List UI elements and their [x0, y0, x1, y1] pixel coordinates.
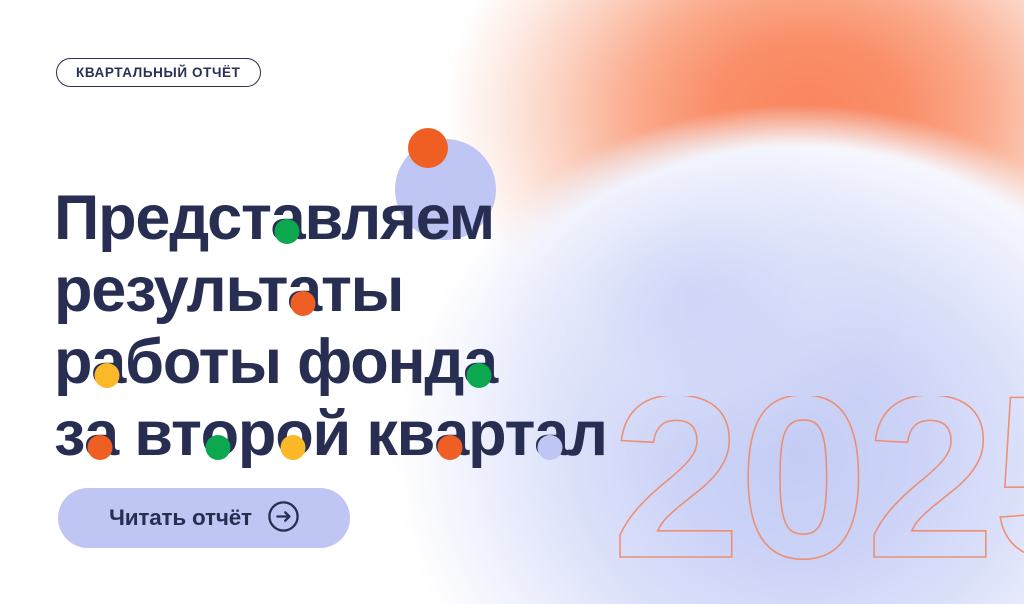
headline-text: л [568, 399, 607, 469]
headline-letter: о [275, 399, 312, 469]
headline-dotted-letter: а [84, 398, 118, 470]
headline-letter: а [91, 327, 125, 397]
headline-line-3: работы фонда [54, 326, 714, 398]
headline-letter: о [201, 399, 238, 469]
headline-text: р [54, 327, 91, 397]
headline-letter: а [534, 399, 568, 469]
headline-dotted-letter: а [434, 398, 468, 470]
headline-text: боты фонд [125, 327, 463, 397]
headline-dotted-letter: а [287, 254, 321, 326]
headline-dotted-letter: а [534, 398, 568, 470]
report-type-badge-label: КВАРТАЛЬНЫЙ ОТЧЁТ [76, 65, 241, 80]
headline-text: з [54, 399, 84, 469]
headline-dotted-letter: о [201, 398, 238, 470]
headline-letter: а [287, 255, 321, 325]
arrow-right-circle-icon [268, 501, 299, 535]
headline-line-2: результаты [54, 254, 714, 326]
read-report-button-label: Читать отчёт [109, 505, 252, 531]
headline-line-1: Представляем [54, 182, 714, 254]
headline-dotted-letter: а [271, 182, 305, 254]
headline-text: Предст [54, 183, 271, 253]
headline-letter: а [434, 399, 468, 469]
headline-dotted-letter: а [91, 326, 125, 398]
promo-banner: 2025 КВАРТАЛЬНЫЙ ОТЧЁТ Представляем резу… [0, 0, 1024, 604]
report-type-badge: КВАРТАЛЬНЫЙ ОТЧЁТ [56, 58, 261, 87]
headline-text: ты [321, 255, 403, 325]
headline-dotted-letter: а [463, 326, 497, 398]
headline-line-4: за второй квартал [54, 398, 714, 470]
headline-text: рт [468, 399, 534, 469]
page-title: Представляем результаты работы фонда за … [54, 182, 714, 470]
headline-dotted-letter: о [275, 398, 312, 470]
headline-text: р [238, 399, 275, 469]
headline-letter: а [271, 183, 305, 253]
headline-orange-dot-decoration [408, 128, 448, 168]
headline-text: результ [54, 255, 287, 325]
read-report-button[interactable]: Читать отчёт [58, 488, 350, 548]
headline-letter: а [463, 327, 497, 397]
headline-text: вт [118, 399, 201, 469]
headline-text: й кв [313, 399, 435, 469]
headline-text: вляем [305, 183, 495, 253]
headline-letter: а [84, 399, 118, 469]
